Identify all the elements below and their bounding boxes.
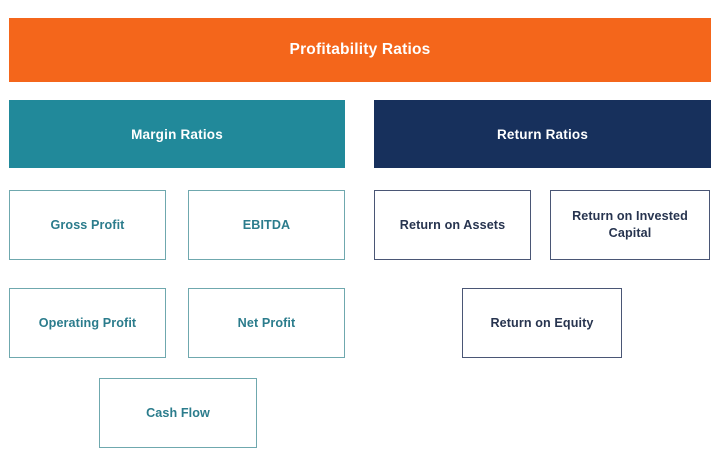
leaf-node-net-profit: Net Profit <box>188 288 345 358</box>
leaf-node-label: Operating Profit <box>39 315 136 332</box>
leaf-node-label: Gross Profit <box>51 217 125 234</box>
leaf-node-cash-flow: Cash Flow <box>99 378 257 448</box>
branch-node-label-margin: Margin Ratios <box>131 127 223 142</box>
branch-node-return-ratios: Return Ratios <box>374 100 711 168</box>
root-node-label: Profitability Ratios <box>290 41 431 59</box>
leaf-node-label: Cash Flow <box>146 405 210 422</box>
branch-node-margin-ratios: Margin Ratios <box>9 100 345 168</box>
leaf-node-label: Return on Assets <box>400 217 505 234</box>
profitability-ratios-diagram: Profitability Ratios Margin Ratios Retur… <box>0 0 720 459</box>
leaf-node-return-on-invested-capital: Return on Invested Capital <box>550 190 710 260</box>
leaf-node-operating-profit: Operating Profit <box>9 288 166 358</box>
root-node-profitability-ratios: Profitability Ratios <box>9 18 711 82</box>
leaf-node-return-on-equity: Return on Equity <box>462 288 622 358</box>
leaf-node-label: EBITDA <box>243 217 290 234</box>
branch-node-label-return: Return Ratios <box>497 127 588 142</box>
leaf-node-gross-profit: Gross Profit <box>9 190 166 260</box>
leaf-node-label: Return on Invested Capital <box>559 208 701 242</box>
leaf-node-label: Net Profit <box>238 315 296 332</box>
leaf-node-label: Return on Equity <box>490 315 593 332</box>
leaf-node-return-on-assets: Return on Assets <box>374 190 531 260</box>
leaf-node-ebitda: EBITDA <box>188 190 345 260</box>
